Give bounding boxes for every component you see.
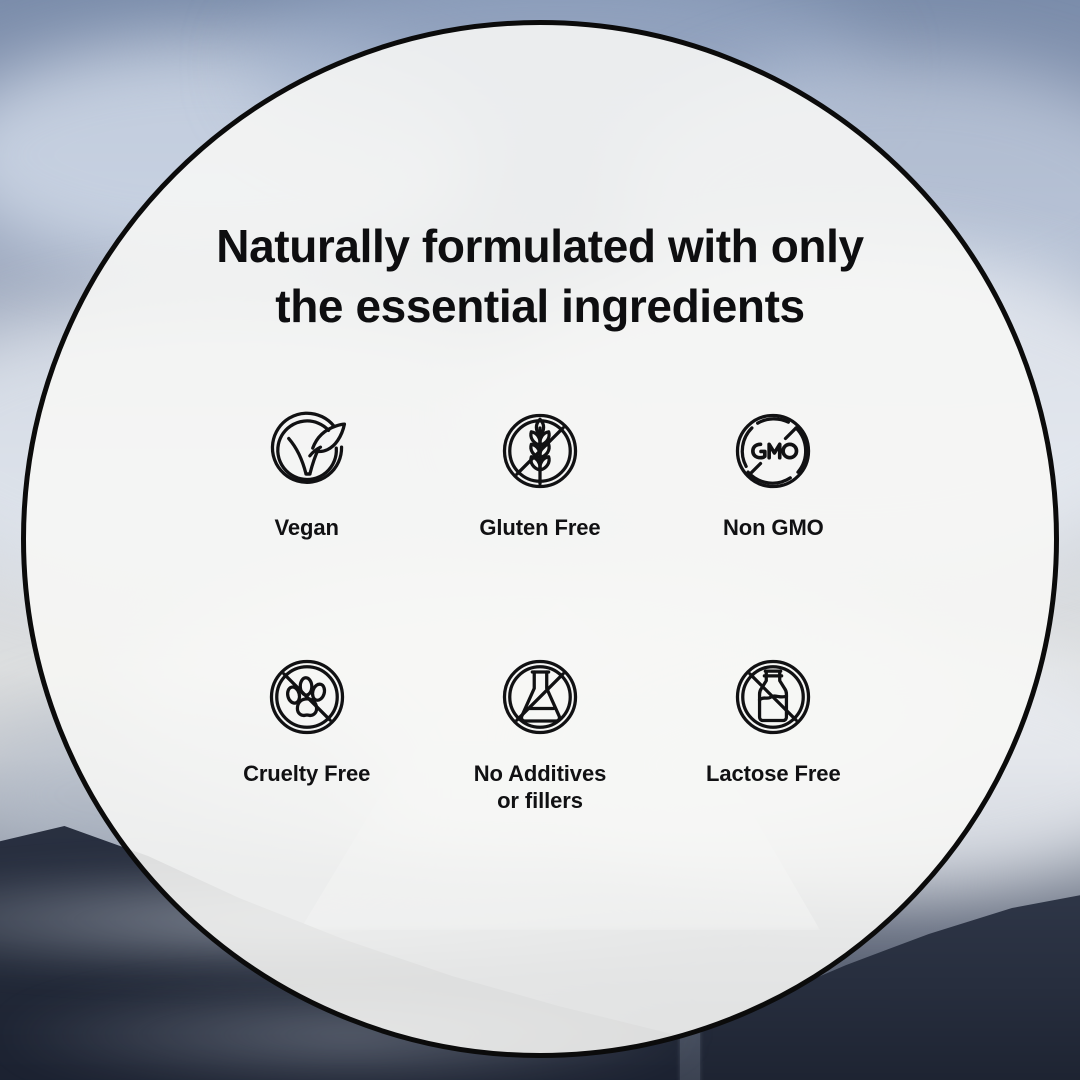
badge-label: Cruelty Free: [243, 761, 370, 788]
no-wheat-icon: [492, 403, 588, 499]
no-milk-bottle-icon: [725, 649, 821, 745]
badge-graphic-canvas: Naturally formulated with only the essen…: [0, 0, 1080, 1080]
badge-cruelty-free: Cruelty Free: [190, 649, 423, 815]
no-gmo-icon: [725, 403, 821, 499]
badge-label: Non GMO: [723, 515, 824, 542]
circle-panel: Naturally formulated with only the essen…: [21, 20, 1059, 1058]
headline-line-1: Naturally formulated with only: [190, 217, 890, 277]
badge-lactose-free: Lactose Free: [657, 649, 890, 815]
vegan-leaf-icon: [259, 403, 355, 499]
headline-line-2: the essential ingredients: [190, 277, 890, 337]
badge-non-gmo: Non GMO: [657, 403, 890, 542]
no-flask-icon: [492, 649, 588, 745]
badge-vegan: Vegan: [190, 403, 423, 542]
page-title: Naturally formulated with only the essen…: [190, 217, 890, 337]
badge-no-additives: No Additives or fillers: [423, 649, 656, 815]
badge-label: Vegan: [275, 515, 339, 542]
badge-label: No Additives or fillers: [474, 761, 606, 815]
claims-grid: Vegan: [190, 403, 890, 815]
badge-label: Gluten Free: [479, 515, 600, 542]
badge-label: Lactose Free: [706, 761, 841, 788]
no-paw-icon: [259, 649, 355, 745]
badge-gluten-free: Gluten Free: [423, 403, 656, 542]
